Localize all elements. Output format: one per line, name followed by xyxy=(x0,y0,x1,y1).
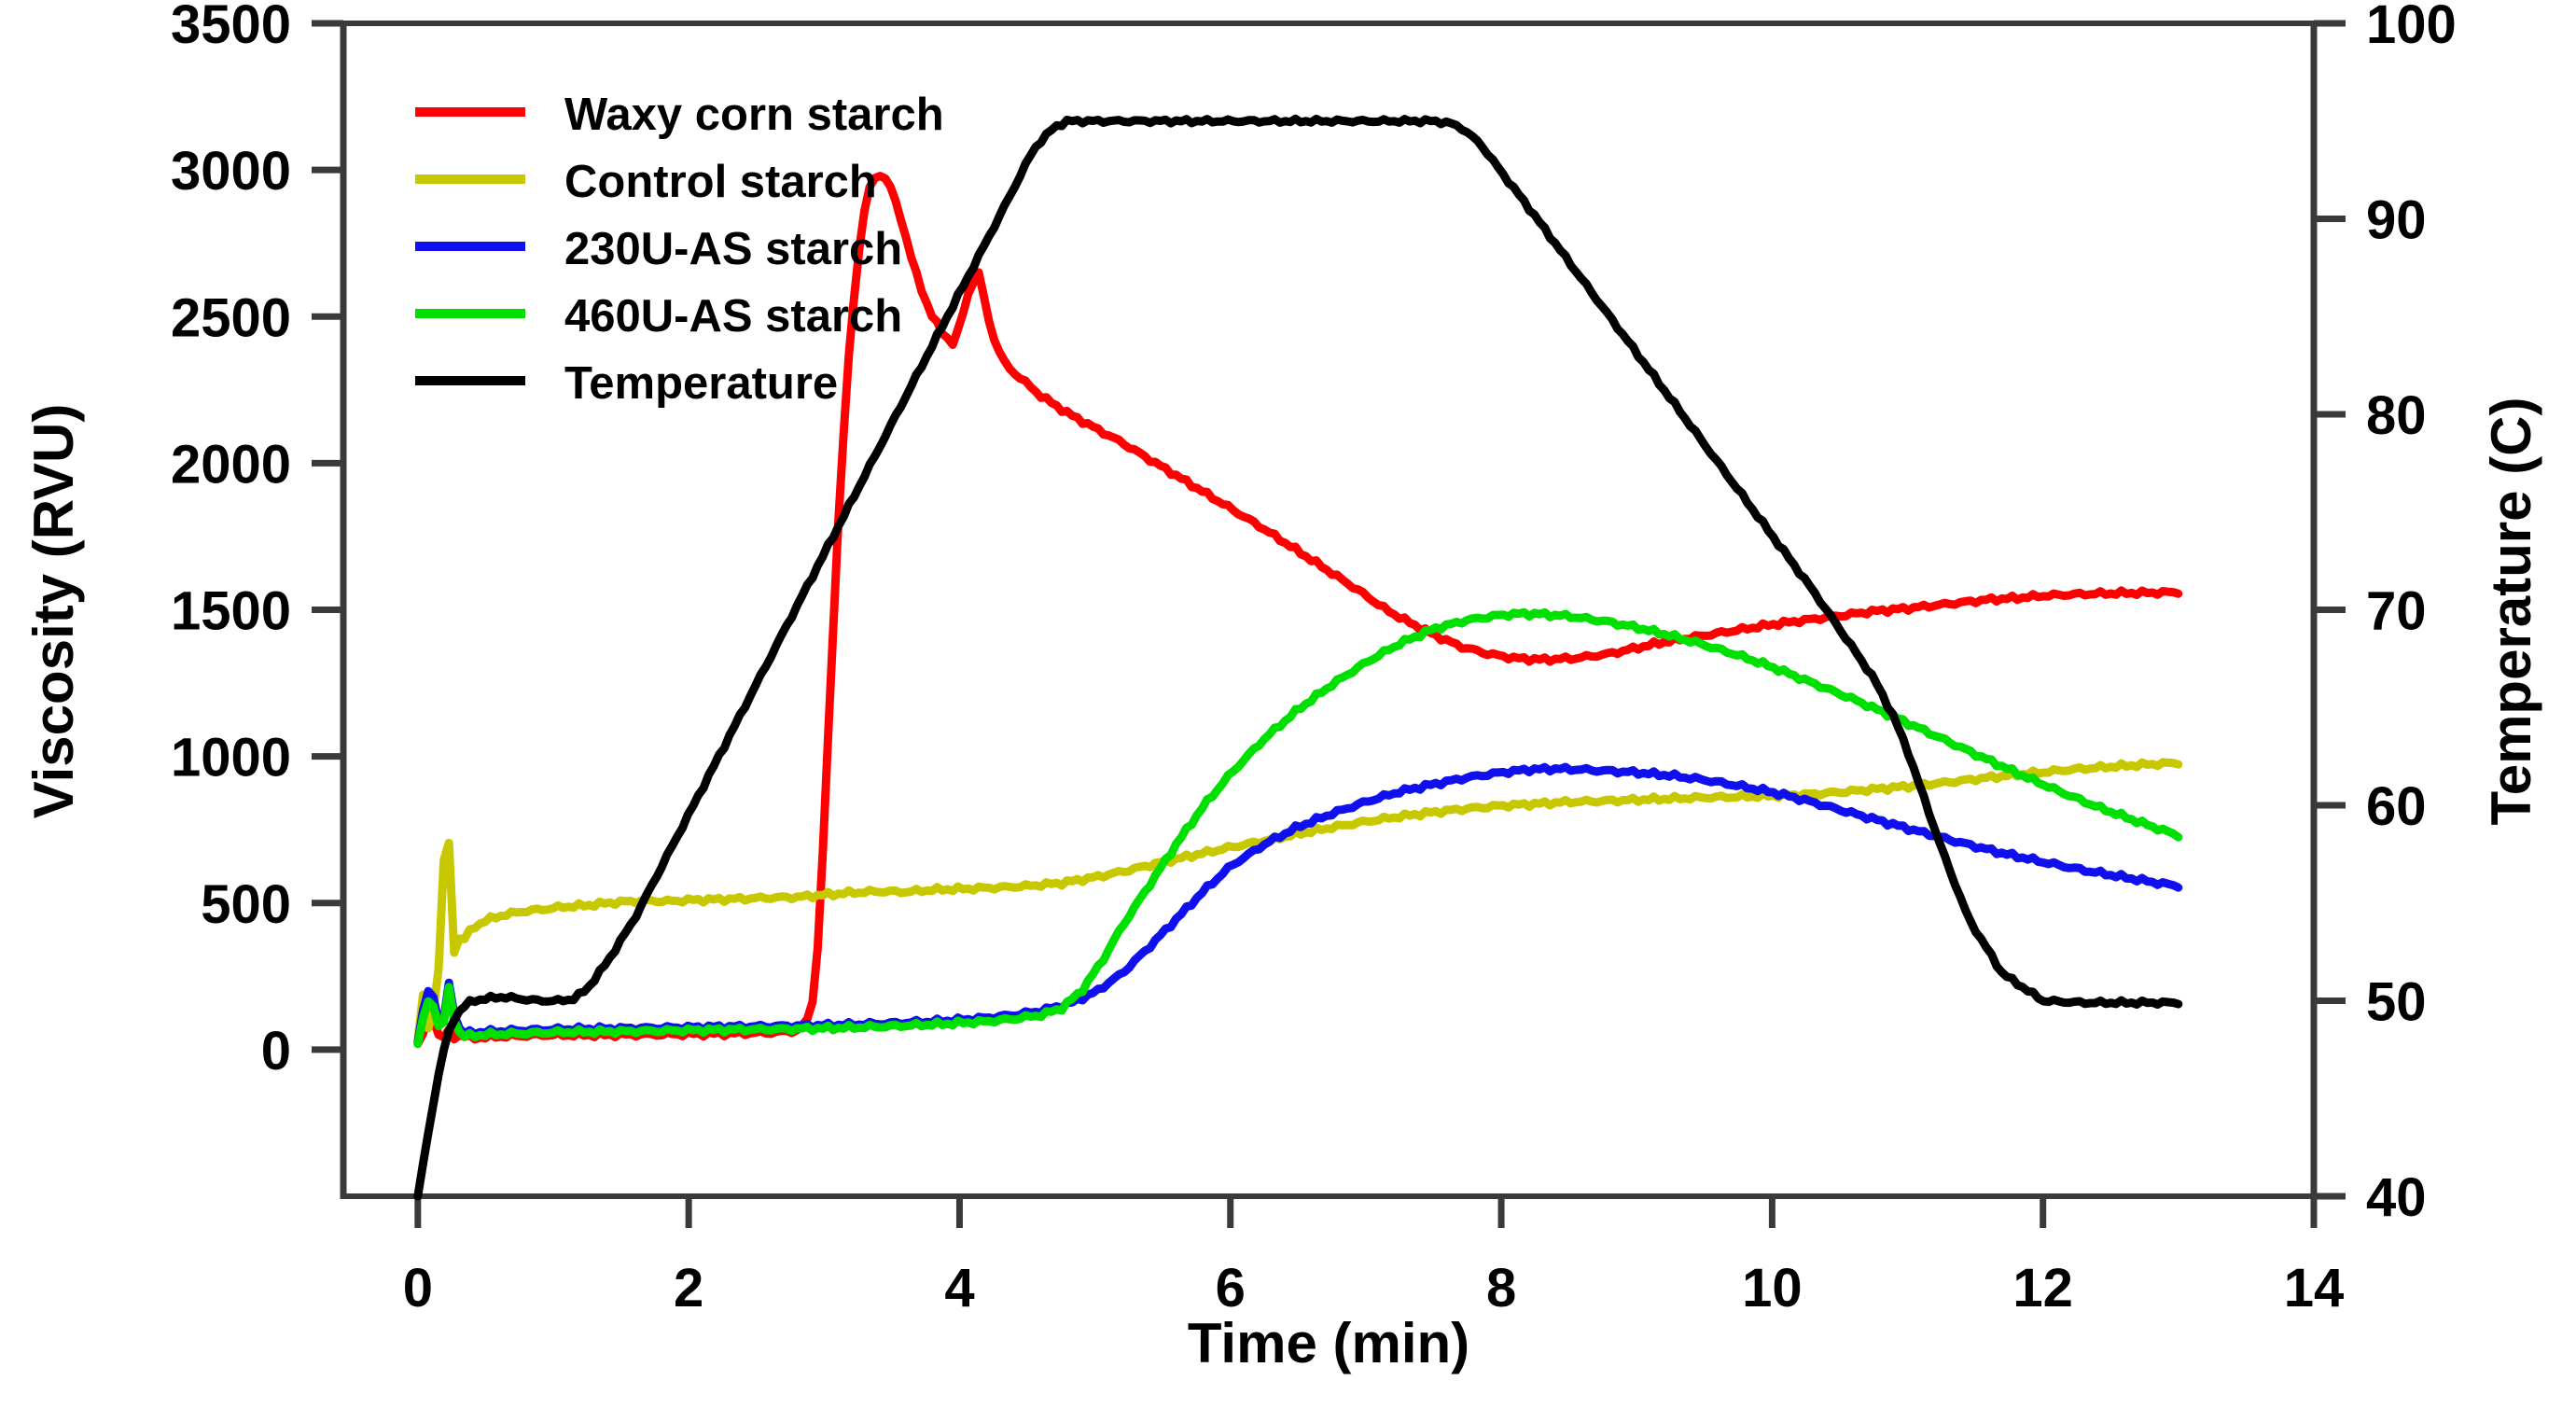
x-tick-label: 10 xyxy=(1742,1258,1803,1318)
left-tick-label: 500 xyxy=(201,874,291,935)
right-tick-label: 60 xyxy=(2366,776,2427,837)
left-tick-label: 1000 xyxy=(171,728,291,788)
x-tick-label: 14 xyxy=(2284,1258,2345,1318)
x-axis-title: Time (min) xyxy=(1188,1312,1469,1374)
right-tick-label: 70 xyxy=(2366,581,2427,642)
left-tick-label: 1500 xyxy=(171,581,291,642)
right-tick-label: 100 xyxy=(2366,0,2457,55)
legend-label: 460U-AS starch xyxy=(564,291,902,342)
x-tick-label: 0 xyxy=(403,1258,433,1318)
left-tick-label: 0 xyxy=(261,1021,291,1081)
right-tick-label: 90 xyxy=(2366,190,2427,251)
rva-pasting-curve-chart: 0500100015002000250030003500 40506070809… xyxy=(0,0,2576,1409)
x-tick-label: 4 xyxy=(944,1258,974,1318)
x-tick-label: 2 xyxy=(674,1258,703,1318)
x-tick-label: 6 xyxy=(1216,1258,1246,1318)
right-tick-label: 40 xyxy=(2366,1167,2427,1228)
chart-figure: 0500100015002000250030003500 40506070809… xyxy=(0,0,2576,1409)
left-tick-label: 3000 xyxy=(171,141,291,202)
secondary-y-axis-title: Temperature (C) xyxy=(2480,398,2542,826)
left-tick-label: 2500 xyxy=(171,287,291,348)
left-tick-label: 3500 xyxy=(171,0,291,55)
left-tick-label: 2000 xyxy=(171,434,291,495)
x-tick-label: 8 xyxy=(1486,1258,1516,1318)
legend-label: Control starch xyxy=(564,157,877,207)
legend-label: 230U-AS starch xyxy=(564,224,902,274)
y-axis-title: Viscosity (RVU) xyxy=(22,404,85,819)
right-tick-label: 50 xyxy=(2366,972,2427,1033)
legend-label: Waxy corn starch xyxy=(564,90,944,140)
legend-label: Temperature xyxy=(564,358,838,409)
right-tick-label: 80 xyxy=(2366,385,2427,446)
x-tick-label: 12 xyxy=(2012,1258,2073,1318)
